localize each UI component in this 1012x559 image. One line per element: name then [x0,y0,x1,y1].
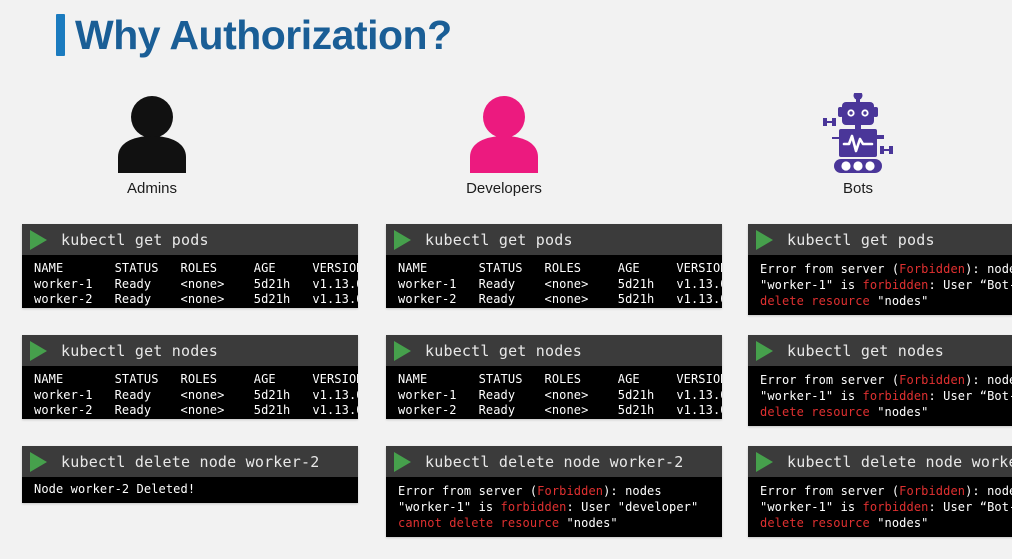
terminal-output-line: "worker-1" is forbidden: User “Bot-1” [760,499,1012,515]
persona-label-bots: Bots [843,181,873,196]
terminal-command-bar[interactable]: kubectl delete node worker-2 [22,446,358,477]
terminal-command-text: kubectl get nodes [787,342,944,360]
terminal-command-text: kubectl get pods [425,231,573,249]
terminal-command-bar[interactable]: kubectl delete node worker [748,446,1012,477]
terminal-command-text: kubectl get pods [61,231,209,249]
terminal-developers-get-nodes[interactable]: kubectl get nodes NAME STATUS ROLES AGE … [386,335,722,419]
terminal-output-line: worker-2 Ready <none> 5d21h v1.13.0 [398,403,722,419]
terminal-output-line: worker-2 Ready <none> 5d21h v1.13.0 [34,403,358,419]
title-text: Why Authorization? [75,15,452,56]
play-icon [30,452,47,472]
persona-bots: Bots [768,95,948,196]
terminal-command-bar[interactable]: kubectl get pods [22,224,358,255]
terminal-error-output: Error from server (Forbidden): nodes"wor… [748,477,1012,537]
terminal-output-line: NAME STATUS ROLES AGE VERSION [398,372,722,388]
play-icon [394,230,411,250]
terminal-command-bar[interactable]: kubectl delete node worker-2 [386,446,722,477]
terminal-output-line: delete resource "nodes" [760,293,1012,309]
terminal-error-output: Error from server (Forbidden): nodes"wor… [748,366,1012,426]
terminal-error-output: Error from server (Forbidden): nodes"wor… [748,255,1012,315]
terminal-output-line: Error from server (Forbidden): nodes [760,261,1012,277]
terminal-command-text: kubectl get nodes [425,342,582,360]
terminal-command-bar[interactable]: kubectl get nodes [22,335,358,366]
terminal-output-line: worker-1 Ready <none> 5d21h v1.13.0 [398,277,722,293]
terminal-output: NAME STATUS ROLES AGE VERSION worker-1 R… [22,255,358,308]
terminal-bots-get-nodes[interactable]: kubectl get nodes Error from server (For… [748,335,1012,426]
terminal-admins-get-pods[interactable]: kubectl get pods NAME STATUS ROLES AGE V… [22,224,358,308]
terminal-command-bar[interactable]: kubectl get pods [748,224,1012,255]
terminal-output-line: NAME STATUS ROLES AGE VERSION [34,261,358,277]
title-accent-bar [56,14,65,56]
persona-label-admins: Admins [127,181,177,196]
persona-label-developers: Developers [466,181,542,196]
terminal-command-bar[interactable]: kubectl get nodes [386,335,722,366]
terminal-output-line: "worker-1" is forbidden: User “Bot-1” [760,388,1012,404]
terminal-output: Node worker-2 Deleted! [22,477,358,503]
terminal-output-line: Node worker-2 Deleted! [34,482,358,498]
terminal-command-text: kubectl delete node worker-2 [425,453,683,471]
play-icon [756,452,773,472]
play-icon [30,341,47,361]
terminal-output-line: delete resource "nodes" [760,404,1012,420]
play-icon [30,230,47,250]
terminal-output-line: delete resource "nodes" [760,515,1012,531]
play-icon [756,230,773,250]
terminal-admins-delete-node[interactable]: kubectl delete node worker-2 Node worker… [22,446,358,503]
terminal-output: NAME STATUS ROLES AGE VERSION worker-1 R… [386,366,722,419]
terminal-output-line: Error from server (Forbidden): nodes [398,483,722,499]
person-silhouette-icon [114,95,190,173]
terminal-admins-get-nodes[interactable]: kubectl get nodes NAME STATUS ROLES AGE … [22,335,358,419]
terminal-output-line: worker-1 Ready <none> 5d21h v1.13.0 [34,277,358,293]
terminal-developers-get-pods[interactable]: kubectl get pods NAME STATUS ROLES AGE V… [386,224,722,308]
terminal-bots-get-pods[interactable]: kubectl get pods Error from server (Forb… [748,224,1012,315]
terminal-output-line: Error from server (Forbidden): nodes [760,372,1012,388]
play-icon [394,341,411,361]
terminal-output-line: cannot delete resource "nodes" [398,515,722,531]
terminal-command-bar[interactable]: kubectl get nodes [748,335,1012,366]
page-title: Why Authorization? [56,14,452,56]
terminal-command-bar[interactable]: kubectl get pods [386,224,722,255]
persona-admins: Admins [62,95,242,196]
terminal-bots-delete-node[interactable]: kubectl delete node worker Error from se… [748,446,1012,537]
terminal-output-line: worker-2 Ready <none> 5d21h v1.13.0 [398,292,722,308]
terminal-command-text: kubectl get pods [787,231,935,249]
robot-icon [812,95,904,173]
terminal-command-text: kubectl delete node worker-2 [61,453,319,471]
terminal-output-line: worker-1 Ready <none> 5d21h v1.13.0 [398,388,722,404]
terminal-output-line: worker-1 Ready <none> 5d21h v1.13.0 [34,388,358,404]
person-silhouette-icon [466,95,542,173]
terminal-output-line: Error from server (Forbidden): nodes [760,483,1012,499]
terminal-output-line: "worker-1" is forbidden: User "developer… [398,499,722,515]
terminal-output-line: worker-2 Ready <none> 5d21h v1.13.0 [34,292,358,308]
terminal-output-line: NAME STATUS ROLES AGE VERSION [34,372,358,388]
terminal-command-text: kubectl delete node worker [787,453,1012,471]
terminal-output: NAME STATUS ROLES AGE VERSION worker-1 R… [386,255,722,308]
terminal-developers-delete-node[interactable]: kubectl delete node worker-2 Error from … [386,446,722,537]
terminal-command-text: kubectl get nodes [61,342,218,360]
terminal-output-line: "worker-1" is forbidden: User “Bot-1” [760,277,1012,293]
play-icon [394,452,411,472]
terminal-output-line: NAME STATUS ROLES AGE VERSION [398,261,722,277]
play-icon [756,341,773,361]
persona-developers: Developers [414,95,594,196]
terminal-output: NAME STATUS ROLES AGE VERSION worker-1 R… [22,366,358,419]
terminal-error-output: Error from server (Forbidden): nodes"wor… [386,477,722,537]
